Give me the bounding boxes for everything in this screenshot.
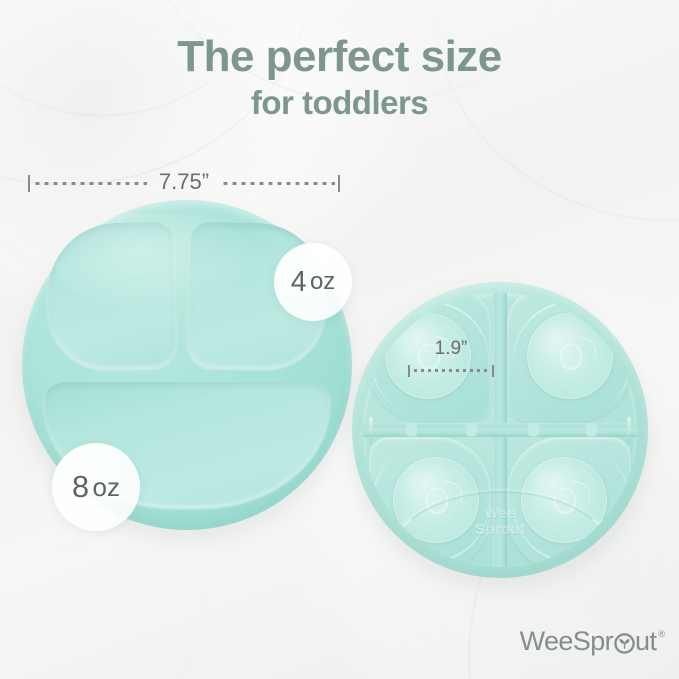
embossed-logo-line-1: Wee <box>363 506 637 521</box>
registered-trademark-icon: ® <box>658 630 665 639</box>
channel-tab <box>467 424 476 436</box>
capacity-badge-4oz: 4 oz <box>274 243 352 321</box>
measure-dotted-line-left <box>33 182 147 185</box>
suction-cup-measurement: 1.9” <box>408 338 494 378</box>
measure-dotted-line <box>412 369 491 372</box>
headline-line-1: The perfect size <box>0 34 679 80</box>
plate-back-surface: Wee Sprout <box>363 293 637 567</box>
suction-cup-measure-line <box>408 364 494 377</box>
headline: The perfect size for toddlers <box>0 34 679 121</box>
sprout-icon <box>614 632 635 653</box>
embossed-logo-line-2: Sprout <box>363 522 637 537</box>
measure-dotted-line-right <box>221 182 335 185</box>
capacity-badge-4oz-number: 4 <box>291 266 306 299</box>
capacity-badge-4oz-unit: oz <box>310 268 335 296</box>
capacity-badge-8oz-number: 8 <box>72 469 89 505</box>
channel-end-cap-left <box>369 417 373 443</box>
measure-end-cap-right <box>338 175 340 192</box>
suction-cup-size-label: 1.9” <box>408 338 494 360</box>
brand-logo-text: WeeSpr ut <box>520 628 657 655</box>
channel-end-cap-right <box>627 417 631 443</box>
divided-plate-back-view: Wee Sprout <box>352 282 648 578</box>
plate-width-label: 7.75” <box>150 169 218 195</box>
measure-end-cap-left <box>408 365 410 377</box>
suction-cup-top-right <box>527 313 613 399</box>
capacity-badge-8oz: 8 oz <box>52 443 140 531</box>
channel-tab <box>587 424 596 436</box>
infographic-canvas: The perfect size for toddlers 7.75” <box>0 0 679 679</box>
brand-logo-text-part1: WeeSpr <box>520 628 613 655</box>
capacity-badge-8oz-unit: oz <box>93 472 120 503</box>
brand-logo-text-part2: ut <box>635 628 656 655</box>
channel-tab <box>407 424 416 436</box>
measure-end-cap-left <box>28 175 30 192</box>
channel-tab <box>529 424 538 436</box>
plate-width-measurement: 7.75” <box>28 170 340 196</box>
embossed-brand-logo: Wee Sprout <box>363 506 637 537</box>
compartment-top-left <box>47 222 177 370</box>
headline-line-2: for toddlers <box>0 86 679 121</box>
brand-logo: WeeSpr ut ® <box>520 628 665 655</box>
measure-end-cap-right <box>492 365 494 377</box>
